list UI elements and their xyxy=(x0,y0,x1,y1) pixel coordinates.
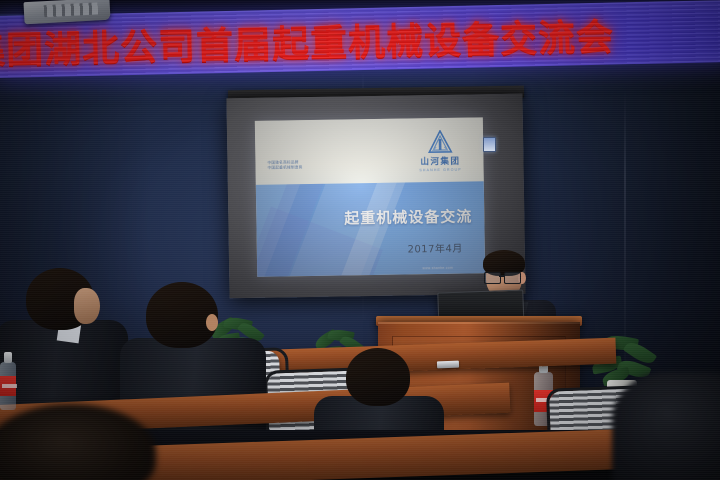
wall-control-plate[interactable] xyxy=(483,137,496,152)
presentation-slide: 中国驰名商标品牌 中国起重机械制造商 山河集团 SHANHE GROUP xyxy=(255,117,485,277)
attendee-head xyxy=(346,348,410,406)
logo-english-name: SHANHE GROUP xyxy=(412,168,470,173)
slide-url: www.shanhe.com xyxy=(423,266,454,270)
screenshot-root: 集团湖北公司首届起重机械设备交流会 中国驰名商标品牌 中国起重机械制造商 xyxy=(0,0,720,480)
attendee-ear xyxy=(206,314,218,331)
slide-date: 2017年4月 xyxy=(407,240,463,256)
slide-body: 起重机械设备交流 2017年4月 www.shanhe.com xyxy=(256,181,485,277)
attendee-face xyxy=(74,288,100,324)
slide-tagline-2: 中国起重机械制造商 xyxy=(268,165,303,171)
glasses-icon xyxy=(484,272,522,282)
slide-title: 起重机械设备交流 xyxy=(344,205,472,228)
water-bottle-left[interactable] xyxy=(0,352,16,410)
bottle-label xyxy=(0,376,16,396)
company-logo: 山河集团 SHANHE GROUP xyxy=(411,130,470,177)
table-remote[interactable] xyxy=(437,361,459,369)
attendee-left xyxy=(2,268,122,413)
slide-header-band: 中国驰名商标品牌 中国起重机械制造商 山河集团 SHANHE GROUP xyxy=(255,117,484,185)
logo-chinese-name: 山河集团 xyxy=(411,155,469,168)
bottle-cap xyxy=(4,352,12,363)
slide-header-taglines: 中国驰名商标品牌 中国起重机械制造商 xyxy=(267,160,302,171)
projector-vent xyxy=(44,2,99,17)
shanhe-triangle-icon xyxy=(427,130,453,154)
foreground-attendee-right xyxy=(612,372,720,480)
